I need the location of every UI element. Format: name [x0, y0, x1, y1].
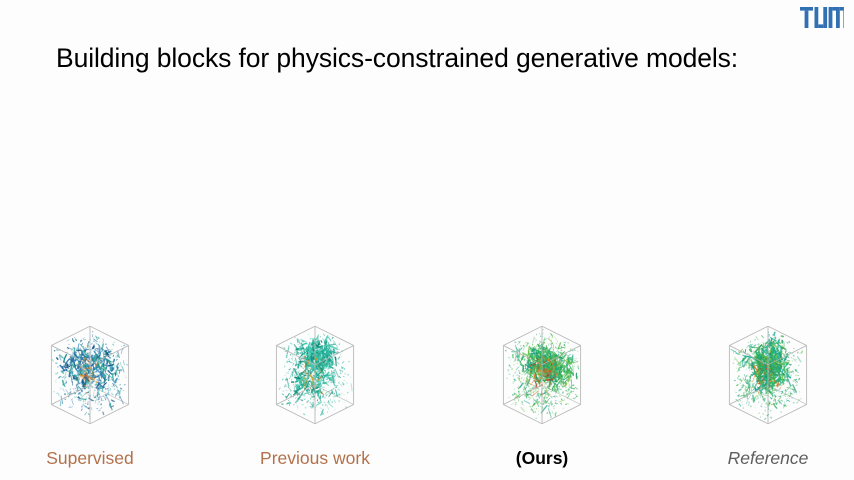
turbulence-cube-reference: [683, 305, 853, 445]
cube-wireframe-front: [276, 326, 353, 424]
vortex-filaments: [279, 334, 352, 415]
cube-wireframe-front: [503, 326, 580, 424]
panel-label-prior: Previous work: [230, 447, 400, 469]
comparison-panel-ours-2: (Ours): [457, 305, 627, 480]
tum-logo: [800, 7, 844, 28]
vortex-filaments: [731, 332, 803, 420]
panel-label-prior: Supervised: [5, 447, 175, 469]
panel-label-ours: (Ours): [457, 447, 627, 469]
tum-logo-bars: [800, 7, 844, 28]
comparison-panel-row: SupervisedPrevious work(Ours)Reference: [0, 305, 854, 480]
turbulence-cube-ours: [457, 305, 627, 445]
turbulence-cube-previous-work: [230, 305, 400, 445]
turbulence-cube-ours: [457, 305, 627, 445]
panel-label-ref: Reference: [683, 447, 853, 469]
comparison-panel-prior-0: Supervised: [5, 305, 175, 480]
turbulence-cube-supervised: [5, 305, 175, 445]
turbulence-cube-previous-work: [230, 305, 400, 445]
cube-wireframe-front: [51, 326, 128, 424]
comparison-panel-ref-3: Reference: [683, 305, 853, 480]
page-title: Building blocks for physics-constrained …: [56, 43, 738, 74]
cube-wireframe-front: [729, 326, 806, 424]
turbulence-cube-supervised: [5, 305, 175, 445]
turbulence-cube-reference: [683, 305, 853, 445]
tum-logo-mark: [800, 7, 844, 28]
comparison-panel-prior-1: Previous work: [230, 305, 400, 480]
